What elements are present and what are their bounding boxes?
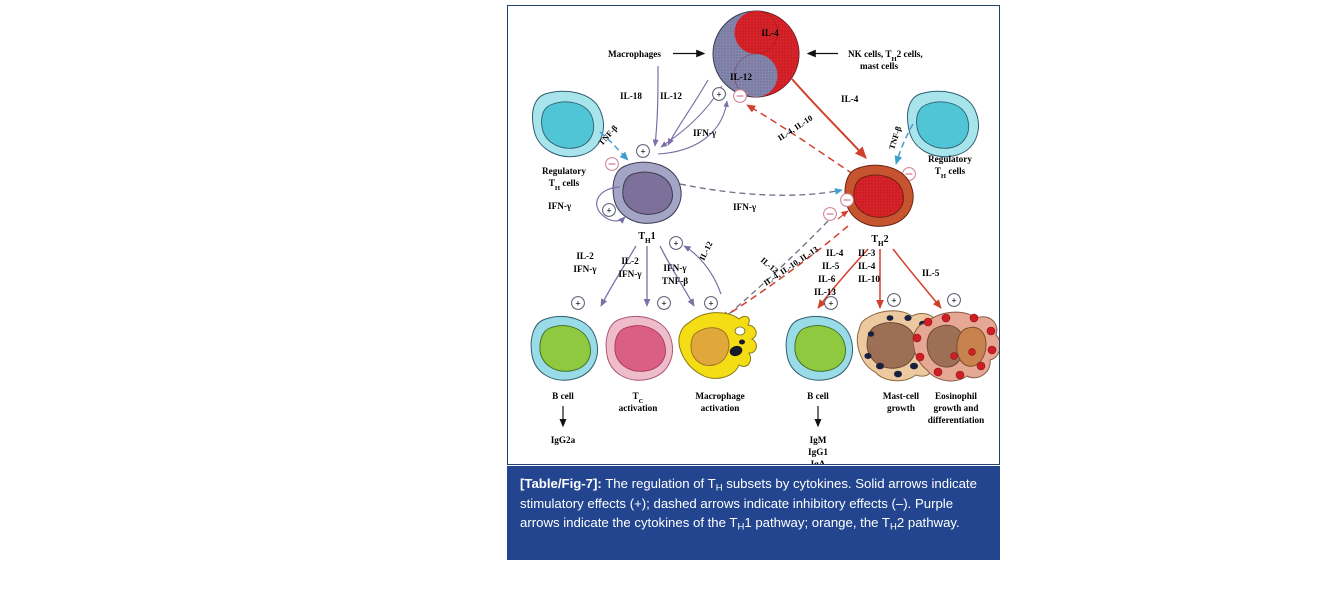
ifng-autocrine-label: IFN-γ (548, 201, 572, 211)
th2-cyt-0-2: IL-6 (818, 274, 836, 284)
minus-sign-th2-a (841, 194, 854, 207)
effector-cell-eosinophil: Eosinophil growth and differentiation (913, 312, 1000, 425)
caption-sub3: H (890, 522, 897, 533)
yinyang-source-cell: IL-4 IL-12 (713, 11, 799, 97)
product-iga: IgA (811, 459, 826, 465)
regulatory-th-cell-left: Regulatory TH cells TNF-β (532, 91, 628, 191)
arrow-il18: IL-18 (620, 66, 658, 146)
th1-cyt-1-0: IL-2 (621, 256, 639, 266)
reg-right-line1: Regulatory (928, 154, 972, 164)
th2-cyt-0-1: IL-5 (822, 261, 840, 271)
th2-cell: TH2 (845, 165, 913, 247)
svg-text:+: + (606, 206, 611, 216)
il18-label: IL-18 (620, 91, 642, 101)
th2-cyt-1-0: IL-3 (858, 248, 876, 258)
svg-text:+: + (891, 296, 896, 306)
th2-effector-arrows: IL-4 IL-5 IL-6 IL-13 IL-3 IL-4 IL-10 IL-… (814, 248, 960, 309)
th2-cyt-1-1: IL-4 (858, 261, 876, 271)
reg-right-line2: TH cells (935, 166, 966, 180)
minus-sign-th1-reg (606, 158, 619, 171)
effector-cell-b-cell-left: B cell IgG2a (531, 317, 597, 445)
caption-sub1: H (716, 483, 723, 494)
il12-label: IL-12 (660, 91, 682, 101)
nk-line2: mast cells (860, 61, 898, 71)
svg-text:+: + (673, 239, 678, 249)
plus-sign-macrophage: + (705, 297, 718, 310)
th2-cyt-2-0: IL-5 (922, 268, 940, 278)
th2-cyt-0-3: IL-13 (814, 287, 836, 297)
label-eosinophil-1: Eosinophil (935, 391, 977, 401)
plus-sign-mastcell: + (888, 294, 901, 307)
caption-tag: [Table/Fig-7]: (520, 476, 602, 491)
caption-part4: 2 pathway. (897, 515, 960, 530)
caption-part3: 1 pathway; orange, the T (744, 515, 890, 530)
product-igg1: IgG1 (808, 447, 828, 457)
th1-cyt-0-0: IL-2 (576, 251, 594, 261)
svg-text:+: + (708, 299, 713, 309)
plus-sign-eosinophil: + (948, 294, 961, 307)
nk-cells-source-label: NK cells, TH2 cells, mast cells (808, 49, 923, 71)
plus-sign-bcell-left: + (572, 297, 585, 310)
effector-cell-tc-activation: TC activation (606, 317, 672, 413)
ifng-cross-label: IFN-γ (733, 202, 757, 212)
label-b-cell-left: B cell (552, 391, 574, 401)
il12-feedback-label: IL-12 (698, 240, 715, 262)
svg-text:+: + (575, 299, 580, 309)
th1-cyt-0-1: IFN-γ (573, 264, 597, 274)
macrophages-text: Macrophages (608, 49, 661, 59)
th2-label: TH2 (871, 234, 888, 248)
ifng-to-source-label: IFN-γ (693, 128, 717, 138)
th1-cyt-1-1: IFN-γ (618, 269, 642, 279)
regulatory-th-cell-right: Regulatory TH cells TNF-β (887, 91, 978, 180)
il4-il10-label: IL-4, IL-10 (776, 114, 814, 143)
il4-to-th2-label: IL-4 (841, 94, 859, 104)
label-macrophage-2: activation (701, 403, 740, 413)
label-eosinophil-2: growth and (933, 403, 978, 413)
figure-panel: IL-4 IL-12 Macrophages NK cells, TH2 cel… (507, 5, 1000, 465)
svg-text:+: + (661, 299, 666, 309)
caption-part1: The regulation of T (602, 476, 716, 491)
tnfb-right-label: TNF-β (887, 125, 903, 151)
arrow-il4-il10-inhibit: IL-4, IL-10 (747, 105, 853, 174)
product-igm: IgM (810, 435, 827, 445)
product-igg2a: IgG2a (551, 435, 576, 445)
page-root: IL-4 IL-12 Macrophages NK cells, TH2 cel… (0, 0, 1341, 605)
label-tc-activation-2: activation (619, 403, 658, 413)
macrophages-source-label: Macrophages (608, 49, 704, 59)
svg-text:+: + (640, 147, 645, 157)
th1-cell: TH1 (613, 162, 681, 244)
label-b-cell-right: B cell (807, 391, 829, 401)
minus-sign-source-group (734, 90, 747, 103)
plus-sign-bcell-right: + (825, 297, 838, 310)
th2-cyt-1-2: IL-10 (858, 274, 880, 284)
reg-left-line1: Regulatory (542, 166, 586, 176)
figure-diagram: IL-4 IL-12 Macrophages NK cells, TH2 cel… (508, 6, 1000, 465)
label-mast-cell-2: growth (887, 403, 915, 413)
th1-cyt-2-0: IFN-γ (663, 263, 687, 273)
svg-text:+: + (828, 299, 833, 309)
figure-caption: [Table/Fig-7]: The regulation of TH subs… (507, 466, 1000, 560)
plus-sign-tc: + (658, 297, 671, 310)
effector-cell-b-cell-right: B cell IgM IgG1 IgA IgE (786, 317, 852, 465)
minus-sign-th2-b (824, 208, 837, 221)
label-mast-cell-1: Mast-cell (883, 391, 920, 401)
plus-sign-th1-top: + (637, 145, 650, 158)
effector-cell-macrophage-activation: Macrophage activation (679, 313, 756, 413)
th1-effector-arrows: IL-2 IFN-γ IL-2 IFN-γ IFN-γ TNF-β + + + (572, 246, 718, 309)
yinyang-il4-label: IL-4 (761, 28, 779, 38)
reg-left-line2: TH cells (549, 178, 580, 192)
th2-cyt-0-0: IL-4 (826, 248, 844, 258)
yinyang-il12-label: IL-12 (730, 72, 752, 82)
label-eosinophil-3: differentiation (928, 415, 984, 425)
th1-cyt-2-1: TNF-β (662, 276, 688, 286)
label-macrophage-1: Macrophage (695, 391, 744, 401)
plus-sign-source: + (716, 90, 721, 100)
svg-text:+: + (951, 296, 956, 306)
arrow-ifng-th1-to-th2: IFN-γ (680, 184, 853, 220)
th1-label: TH1 (638, 231, 655, 245)
